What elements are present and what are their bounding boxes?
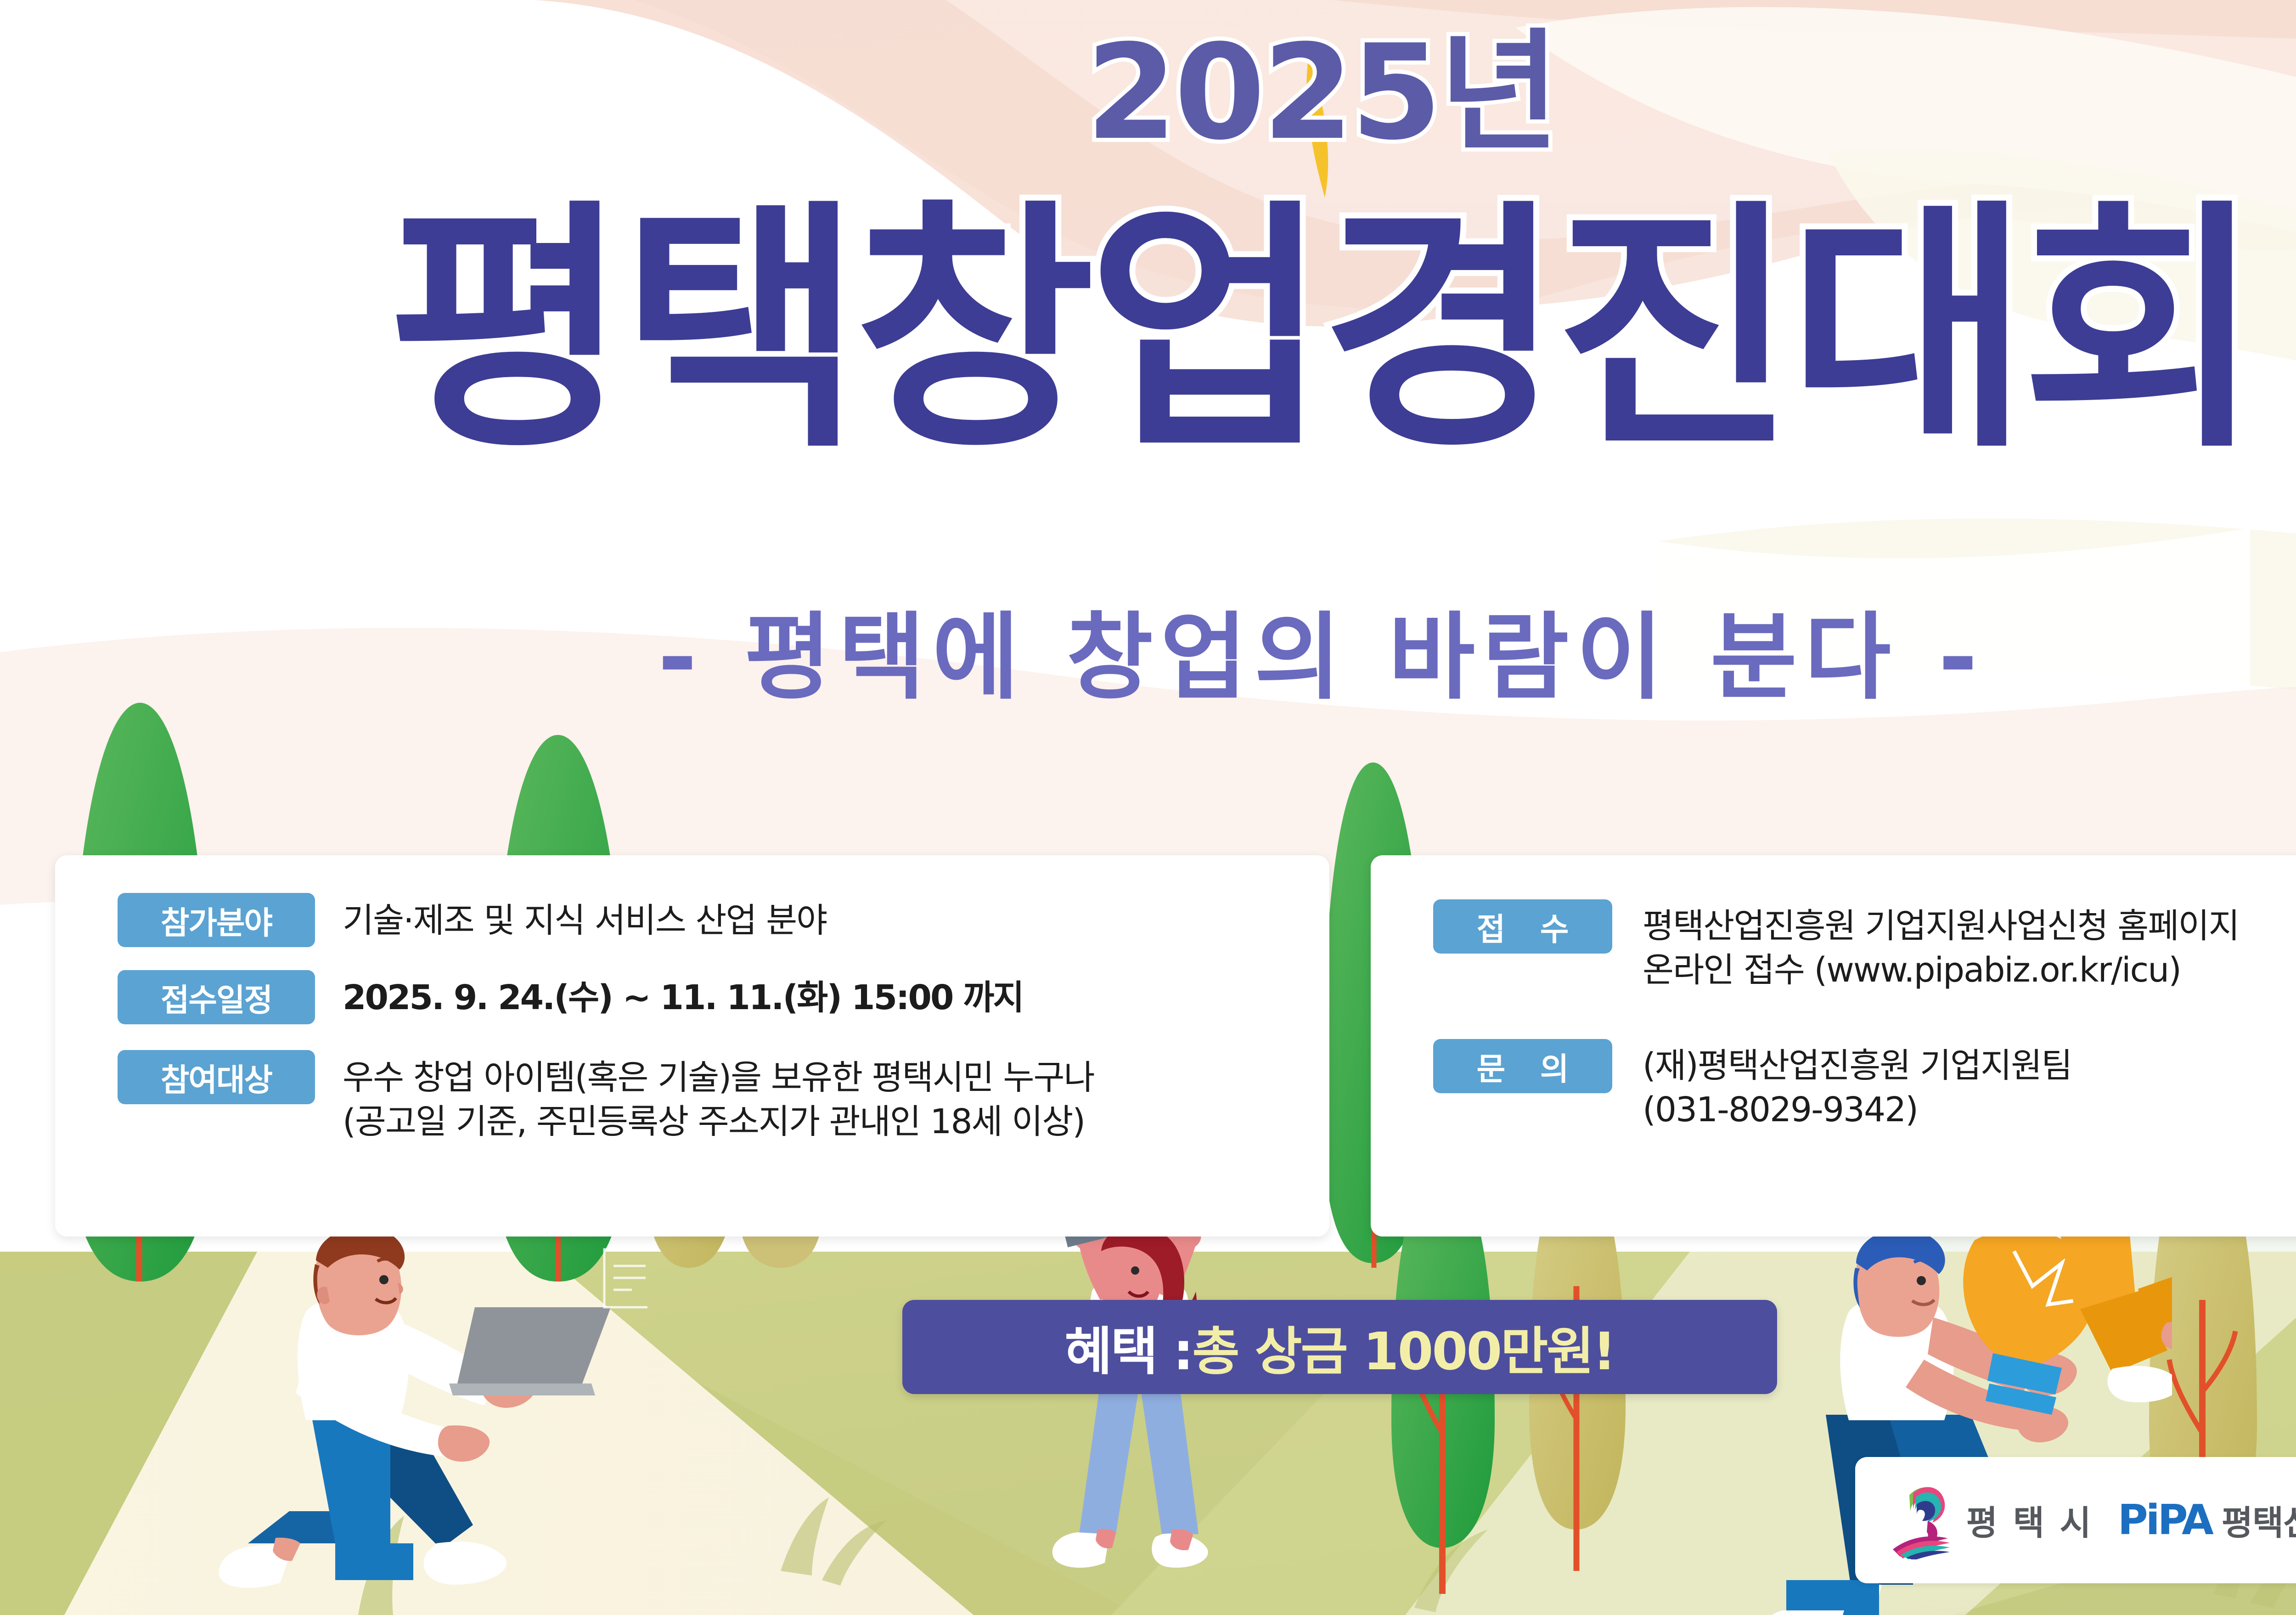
info-card-left: 참가분야 기술·제조 및 지식 서비스 산업 분야 접수일정 2025. 9. …	[55, 855, 1329, 1237]
value-inquiry-line1: (재)평택산업진흥원 기업지원팀	[1643, 1044, 2071, 1088]
poster-root: 2025년 평택창업경진대회 - 평택에 창업의 바람이 분다 - 참가분야 기…	[0, 0, 2296, 1615]
value-participation-field: 기술·제조 및 지식 서비스 산업 분야	[343, 898, 827, 943]
prize-amount: 총 상금 1000만원!	[1192, 1310, 1615, 1384]
info-row-application: 접 수 평택산업진흥원 기업지원사업신청 홈페이지 온라인 접수 (www.pi…	[1433, 899, 2239, 992]
agency-logo-label: 평택산업진흥원	[2222, 1496, 2296, 1545]
value-inquiry-line2: (031-8029-9342)	[1643, 1088, 2071, 1132]
city-logo-label: 평 택 시	[1966, 1496, 2093, 1545]
logo-bar: 평 택 시 PiPA 평택산업진흥원	[1855, 1457, 2296, 1583]
pyeongtaek-city-swirl-icon	[1887, 1481, 1956, 1559]
info-row-eligibility: 참여대상 우수 창업 아이템(혹은 기술)을 보유한 평택시민 누구나 (공고일…	[118, 1050, 1094, 1144]
info-row-schedule: 접수일정 2025. 9. 24.(수) ~ 11. 11.(화) 15:00 …	[118, 970, 1023, 1024]
value-application: 평택산업진흥원 기업지원사업신청 홈페이지 온라인 접수 (www.pipabi…	[1643, 904, 2239, 992]
info-card-right: 접 수 평택산업진흥원 기업지원사업신청 홈페이지 온라인 접수 (www.pi…	[1371, 855, 2296, 1237]
value-eligibility-line1: 우수 창업 아이템(혹은 기술)을 보유한 평택시민 누구나	[343, 1056, 1094, 1100]
value-eligibility: 우수 창업 아이템(혹은 기술)을 보유한 평택시민 누구나 (공고일 기준, …	[343, 1056, 1094, 1144]
badge-participation-field: 참가분야	[118, 893, 315, 947]
prize-banner: 혜택 : 총 상금 1000만원!	[902, 1300, 1777, 1394]
badge-eligibility: 참여대상	[118, 1050, 315, 1104]
value-application-line1: 평택산업진흥원 기업지원사업신청 홈페이지	[1643, 904, 2239, 948]
badge-application: 접 수	[1433, 899, 1612, 954]
info-row-inquiry: 문 의 (재)평택산업진흥원 기업지원팀 (031-8029-9342)	[1433, 1039, 2071, 1132]
value-application-line2[interactable]: 온라인 접수 (www.pipabiz.or.kr/icu)	[1643, 948, 2239, 992]
pipa-logo-unit: PiPA 평택산업진흥원	[2118, 1496, 2296, 1545]
value-inquiry: (재)평택산업진흥원 기업지원팀 (031-8029-9342)	[1643, 1044, 2071, 1132]
value-eligibility-line2: (공고일 기준, 주민등록상 주소지가 관내인 18세 이상)	[343, 1100, 1094, 1144]
badge-inquiry: 문 의	[1433, 1039, 1612, 1093]
prize-label: 혜택 :	[1065, 1310, 1193, 1384]
info-row-category: 참가분야 기술·제조 및 지식 서비스 산업 분야	[118, 893, 827, 947]
pyeongtaek-city-logo-unit: 평 택 시	[1887, 1481, 2093, 1559]
pipa-wordmark: PiPA	[2118, 1496, 2212, 1544]
badge-application-period: 접수일정	[118, 970, 315, 1024]
value-application-period: 2025. 9. 24.(수) ~ 11. 11.(화) 15:00 까지	[343, 976, 1023, 1020]
